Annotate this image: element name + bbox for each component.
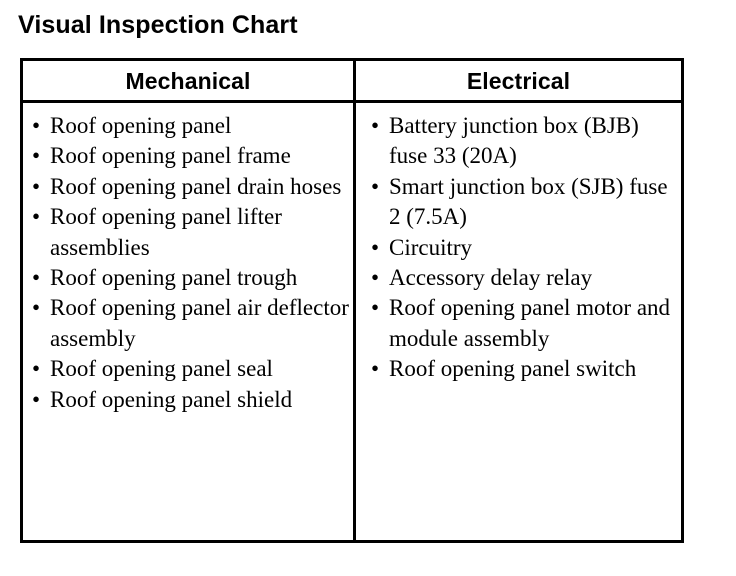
list-item: •Roof opening panel motor and module ass… <box>359 293 681 354</box>
bullet-icon: • <box>371 263 383 293</box>
bullet-icon: • <box>371 233 383 263</box>
bullet-icon: • <box>371 111 383 141</box>
bullet-icon: • <box>371 293 383 323</box>
list-item: •Roof opening panel frame <box>23 141 353 171</box>
bullet-icon: • <box>32 141 44 171</box>
column-header-electrical-label: Electrical <box>467 68 570 94</box>
column-header-mechanical-label: Mechanical <box>126 68 251 94</box>
bullet-icon: • <box>32 293 44 323</box>
list-item: •Roof opening panel trough <box>23 263 353 293</box>
list-item: •Roof opening panel lifter assemblies <box>23 202 353 263</box>
list-item-label: Roof opening panel seal <box>50 354 349 384</box>
bullet-icon: • <box>32 354 44 384</box>
electrical-item-list: •Battery junction box (BJB) fuse 33 (20A… <box>356 103 681 385</box>
list-item: •Roof opening panel drain hoses <box>23 172 353 202</box>
list-item: •Roof opening panel switch <box>359 354 681 384</box>
visual-inspection-chart-page: Visual Inspection Chart Mechanical Elect… <box>0 0 736 576</box>
list-item: •Roof opening panel seal <box>23 354 353 384</box>
list-item: •Roof opening panel shield <box>23 385 353 415</box>
list-item-label: Roof opening panel air deflector assembl… <box>50 293 349 354</box>
page-title: Visual Inspection Chart <box>18 11 298 39</box>
column-header-electrical: Electrical <box>356 61 681 100</box>
inspection-chart-table: Mechanical Electrical •Roof opening pane… <box>20 58 684 543</box>
column-header-mechanical: Mechanical <box>23 61 353 100</box>
bullet-icon: • <box>32 202 44 232</box>
list-item-label: Circuitry <box>389 233 677 263</box>
list-item-label: Accessory delay relay <box>389 263 677 293</box>
list-item: •Accessory delay relay <box>359 263 681 293</box>
list-item-label: Roof opening panel drain hoses <box>50 172 349 202</box>
list-item-label: Smart junction box (SJB) fuse 2 (7.5A) <box>389 172 677 233</box>
list-item: •Smart junction box (SJB) fuse 2 (7.5A) <box>359 172 681 233</box>
bullet-icon: • <box>32 263 44 293</box>
list-item-label: Roof opening panel lifter assemblies <box>50 202 349 263</box>
mechanical-item-list: •Roof opening panel•Roof opening panel f… <box>23 103 353 415</box>
list-item-label: Roof opening panel switch <box>389 354 677 384</box>
bullet-icon: • <box>371 172 383 202</box>
bullet-icon: • <box>371 354 383 384</box>
column-body-mechanical: •Roof opening panel•Roof opening panel f… <box>23 103 353 540</box>
list-item-label: Roof opening panel frame <box>50 141 349 171</box>
list-item-label: Roof opening panel <box>50 111 349 141</box>
list-item: •Battery junction box (BJB) fuse 33 (20A… <box>359 111 681 172</box>
list-item: •Roof opening panel air deflector assemb… <box>23 293 353 354</box>
list-item-label: Roof opening panel shield <box>50 385 349 415</box>
list-item: •Roof opening panel <box>23 111 353 141</box>
list-item-label: Roof opening panel motor and module asse… <box>389 293 677 354</box>
list-item: •Circuitry <box>359 233 681 263</box>
bullet-icon: • <box>32 172 44 202</box>
table-inner: Mechanical Electrical •Roof opening pane… <box>23 61 681 540</box>
column-body-electrical: •Battery junction box (BJB) fuse 33 (20A… <box>356 103 681 540</box>
bullet-icon: • <box>32 111 44 141</box>
bullet-icon: • <box>32 385 44 415</box>
list-item-label: Roof opening panel trough <box>50 263 349 293</box>
list-item-label: Battery junction box (BJB) fuse 33 (20A) <box>389 111 677 172</box>
